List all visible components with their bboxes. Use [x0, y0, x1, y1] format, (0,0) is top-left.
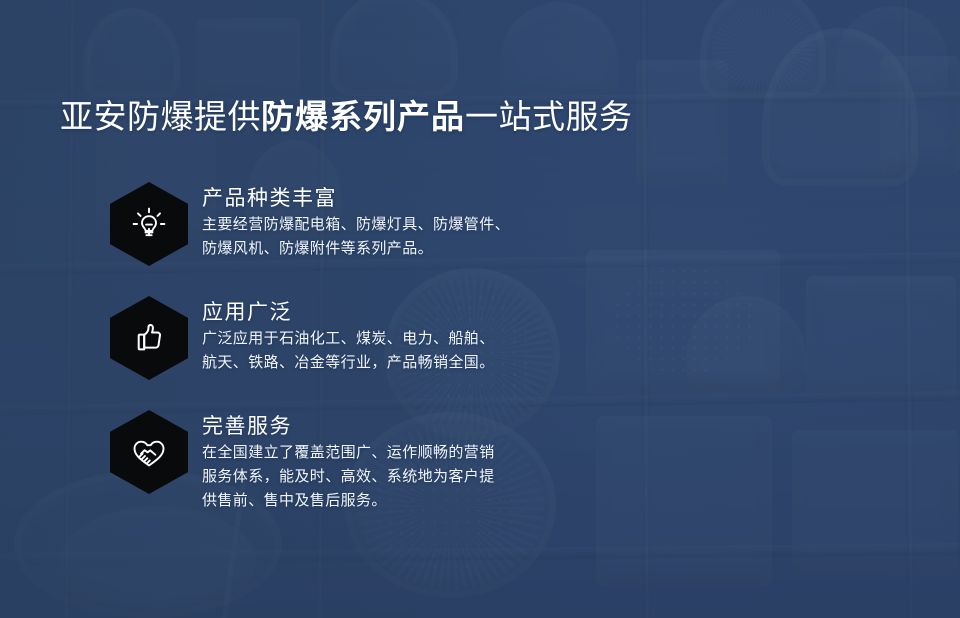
- headline-suffix: 一站式服务: [465, 97, 633, 136]
- feature-title: 完善服务: [202, 412, 495, 440]
- feature-list: 产品种类丰富 主要经营防爆配电箱、防爆灯具、防爆管件、 防爆风机、防爆附件等系列…: [110, 182, 510, 512]
- feature-text: 产品种类丰富 主要经营防爆配电箱、防爆灯具、防爆管件、 防爆风机、防爆附件等系列…: [202, 182, 510, 260]
- feature-description: 主要经营防爆配电箱、防爆灯具、防爆管件、 防爆风机、防爆附件等系列产品。: [202, 212, 510, 260]
- feature-item: 应用广泛 广泛应用于石油化工、煤炭、电力、船舶、 航天、铁路、冶金等行业，产品畅…: [110, 296, 510, 380]
- promo-banner: 亚安防爆提供防爆系列产品一站式服务: [0, 0, 960, 618]
- feature-item: 产品种类丰富 主要经营防爆配电箱、防爆灯具、防爆管件、 防爆风机、防爆附件等系列…: [110, 182, 510, 266]
- feature-icon-badge: [110, 182, 188, 266]
- banner-content: 亚安防爆提供防爆系列产品一站式服务: [0, 0, 960, 618]
- headline-prefix: 亚安防爆提供: [60, 97, 261, 136]
- feature-text: 应用广泛 广泛应用于石油化工、煤炭、电力、船舶、 航天、铁路、冶金等行业，产品畅…: [202, 296, 495, 374]
- feature-title: 产品种类丰富: [202, 184, 510, 212]
- feature-description: 广泛应用于石油化工、煤炭、电力、船舶、 航天、铁路、冶金等行业，产品畅销全国。: [202, 326, 495, 374]
- hexagon-badge: [110, 296, 188, 380]
- headline-emphasis: 防爆系列产品: [261, 97, 465, 136]
- feature-icon-badge: [110, 410, 188, 494]
- feature-item: 完善服务 在全国建立了覆盖范围广、运作顺畅的营销 服务体系，能及时、高效、系统地…: [110, 410, 510, 512]
- feature-description: 在全国建立了覆盖范围广、运作顺畅的营销 服务体系，能及时、高效、系统地为客户提 …: [202, 440, 495, 512]
- feature-icon-badge: [110, 296, 188, 380]
- banner-headline: 亚安防爆提供防爆系列产品一站式服务: [60, 97, 633, 137]
- hexagon-badge: [110, 410, 188, 494]
- feature-title: 应用广泛: [202, 298, 495, 326]
- lightbulb-icon: [129, 204, 169, 244]
- thumbs-up-icon: [129, 318, 169, 358]
- hexagon-badge: [110, 182, 188, 266]
- feature-text: 完善服务 在全国建立了覆盖范围广、运作顺畅的营销 服务体系，能及时、高效、系统地…: [202, 410, 495, 512]
- handshake-heart-icon: [128, 431, 170, 473]
